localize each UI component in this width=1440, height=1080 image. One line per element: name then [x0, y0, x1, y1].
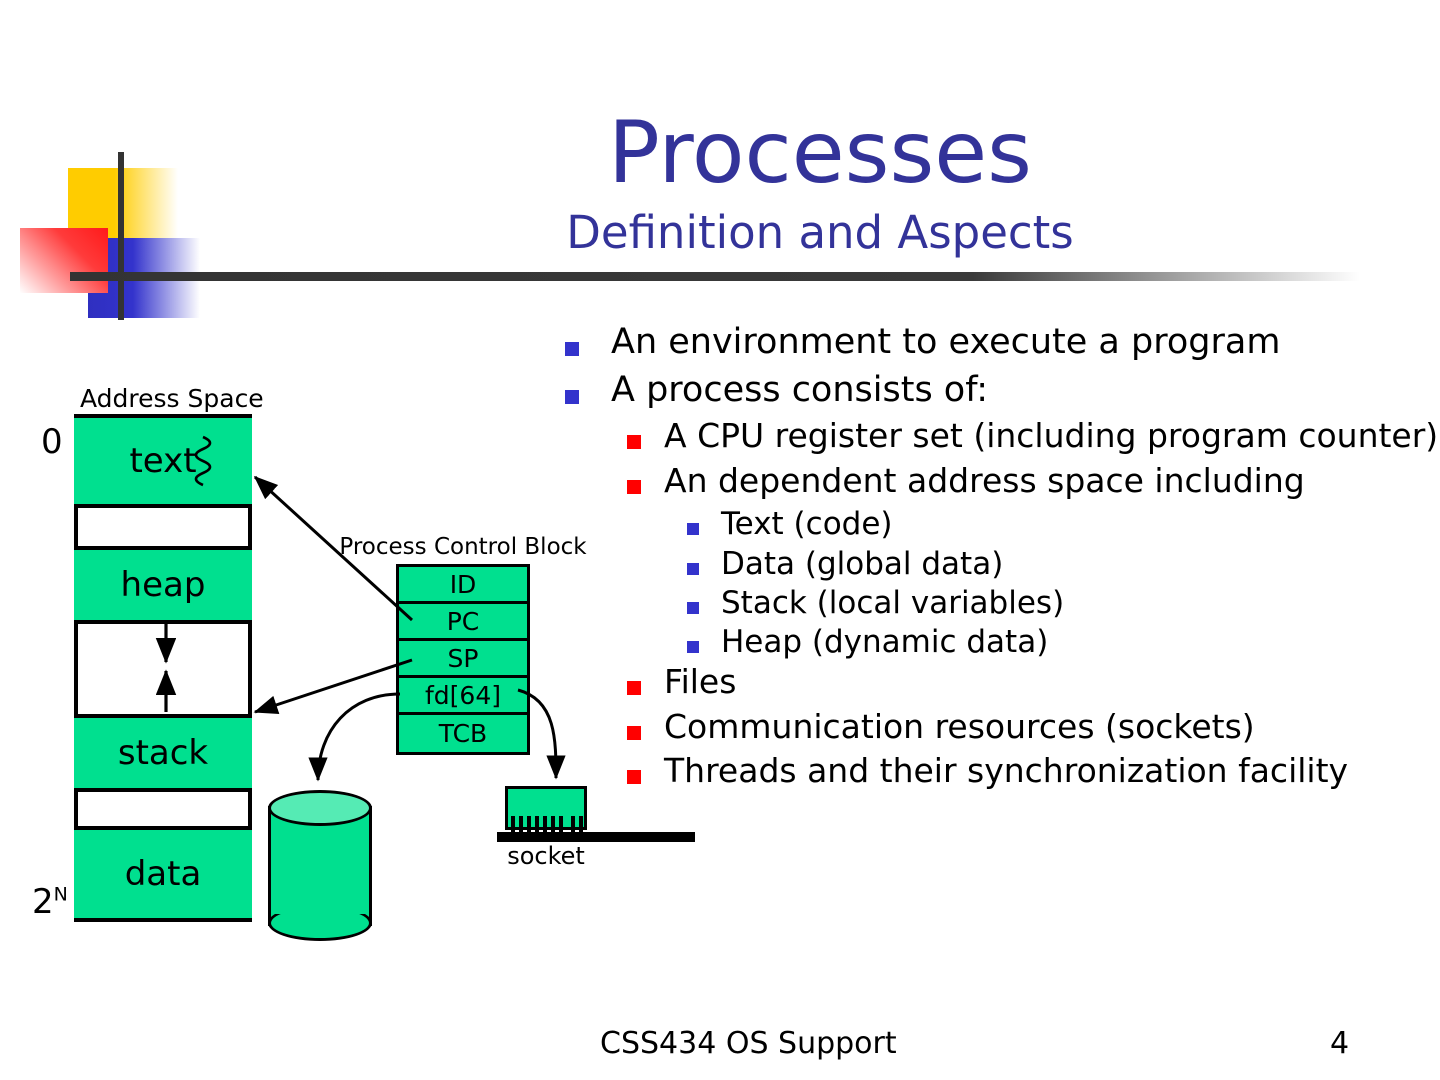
bullet-square-icon [687, 506, 721, 535]
address-space-bottom-label: 2N [32, 882, 68, 922]
socket-pin [571, 816, 575, 834]
list-item: A CPU register set (including program co… [565, 417, 1440, 456]
bullet-square-icon [687, 546, 721, 575]
bullet-square-icon [565, 370, 611, 404]
socket-caption: socket [505, 842, 587, 870]
disk-cylinder-icon [268, 790, 372, 940]
bullet-square-icon [627, 752, 664, 784]
pcb-row-tcb: TCB [399, 715, 527, 752]
socket-pin [559, 816, 563, 834]
fd-to-disk-arrow [318, 694, 400, 780]
memory-segment-data: data [74, 826, 252, 922]
logo-red-rect [20, 228, 108, 293]
cylinder-top-ellipse [268, 790, 372, 826]
bullet-square-icon [565, 322, 611, 356]
list-item: Files [565, 663, 1440, 702]
socket-pin [519, 816, 523, 834]
bullet-square-icon [627, 417, 664, 449]
socket-pin [535, 816, 539, 834]
list-item: A process consists of: [565, 370, 1440, 411]
title-block: Processes Definition and Aspects [260, 110, 1380, 260]
list-item: Heap (dynamic data) [565, 624, 1440, 661]
list-item-label: Communication resources (sockets) [664, 708, 1440, 747]
pcb-row-sp: SP [399, 641, 527, 678]
address-space-caption: Address Space [80, 384, 258, 413]
cylinder-seam-mask [271, 900, 369, 914]
footer-course-label: CSS434 OS Support [600, 1026, 897, 1061]
page-title: Processes [260, 110, 1380, 196]
list-item: Communication resources (sockets) [565, 708, 1440, 747]
pcb-row-id: ID [399, 567, 527, 604]
pcb-caption: Process Control Block [334, 534, 592, 560]
socket-pin [543, 816, 547, 834]
list-item-label: Text (code) [721, 506, 1440, 543]
memory-segment-heap: heap [74, 546, 252, 624]
slide-logo [0, 0, 260, 340]
memory-segment-text: text [74, 414, 252, 508]
addr-exponent: N [54, 884, 68, 906]
list-item-label: Stack (local variables) [721, 585, 1440, 622]
bullet-square-icon [627, 462, 664, 494]
list-item: Text (code) [565, 506, 1440, 543]
list-item-label: Data (global data) [721, 546, 1440, 583]
process-control-block-diagram: Process Control Block ID PC SP fd[64] TC… [396, 564, 530, 755]
address-space-top-label: 0 [41, 422, 63, 462]
addr-base: 2 [32, 882, 54, 922]
header-horizontal-rule [70, 272, 1360, 281]
list-item-label: Heap (dynamic data) [721, 624, 1440, 661]
socket-pin [551, 816, 555, 834]
list-item: Data (global data) [565, 546, 1440, 583]
list-item-label: A process consists of: [611, 370, 1440, 411]
logo-vertical-rule [118, 152, 124, 320]
bullet-square-icon [687, 585, 721, 614]
pcb-row-fd: fd[64] [399, 678, 527, 715]
list-item-label: An dependent address space including [664, 462, 1440, 501]
list-item: An environment to execute a program [565, 322, 1440, 363]
address-space-diagram: Address Space 0 2N text heap stack data [74, 414, 252, 922]
list-item-label: Files [664, 663, 1440, 702]
pcb-table: ID PC SP fd[64] TCB [396, 564, 530, 755]
sp-to-stack-arrow [255, 660, 412, 712]
bullet-square-icon [687, 624, 721, 653]
socket-icon-group: socket [497, 786, 707, 866]
bullet-square-icon [627, 663, 664, 695]
list-item: An dependent address space including [565, 462, 1440, 501]
socket-pin [511, 816, 515, 834]
page-subtitle: Definition and Aspects [260, 206, 1380, 260]
memory-segment-stack: stack [74, 714, 252, 792]
socket-pin [527, 816, 531, 834]
list-item-label: A CPU register set (including program co… [664, 417, 1440, 456]
pcb-row-pc: PC [399, 604, 527, 641]
socket-pin [579, 816, 583, 834]
bullet-square-icon [627, 708, 664, 740]
list-item-label: An environment to execute a program [611, 322, 1440, 363]
list-item: Stack (local variables) [565, 585, 1440, 622]
bullet-list: An environment to execute a program A pr… [565, 322, 1440, 797]
footer-page-number: 4 [1330, 1026, 1349, 1061]
list-item-label: Threads and their synchronization facili… [664, 752, 1440, 791]
